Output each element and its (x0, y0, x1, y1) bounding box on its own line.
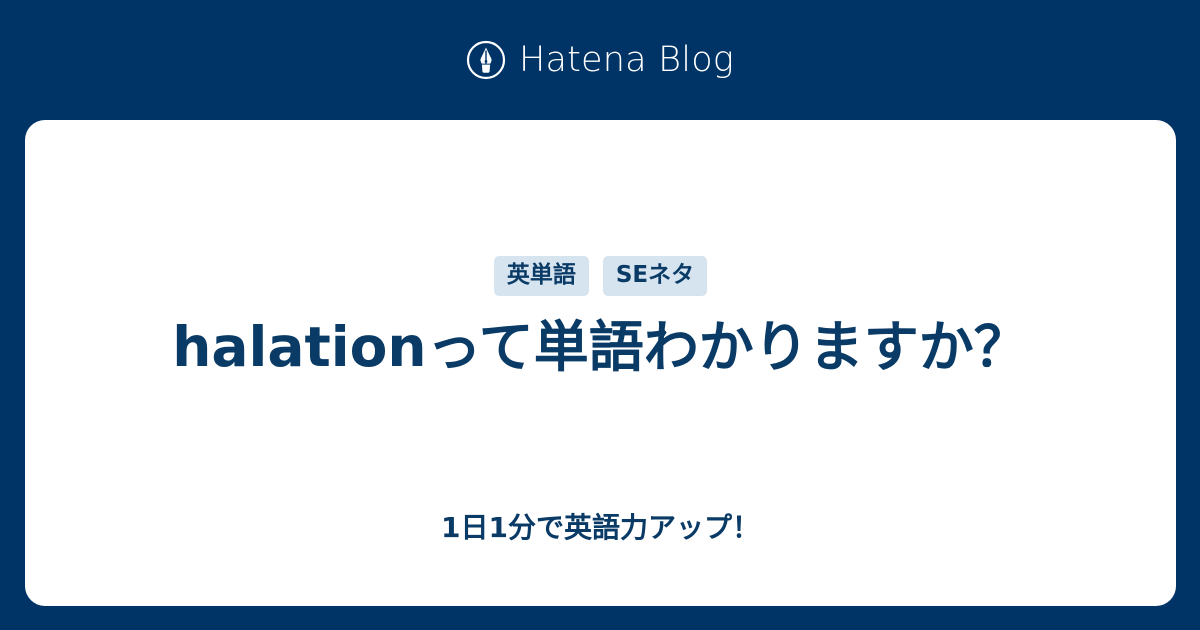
fountain-pen-nib-in-circle-icon (466, 40, 506, 80)
hatena-blog-og-card: Hatena Blog 英単語 SEネタ halationって単語わかりますか？… (0, 0, 1200, 630)
entry-title: halationって単語わかりますか？ (65, 312, 1136, 382)
category-tag[interactable]: SEネタ (603, 256, 707, 296)
category-tag[interactable]: 英単語 (494, 256, 589, 296)
hatena-blog-logo (466, 40, 506, 80)
category-tag-list: 英単語 SEネタ (25, 256, 1176, 296)
blog-subtitle: 1日1分で英語力アップ！ (65, 510, 1136, 546)
brand-header: Hatena Blog (0, 0, 1200, 120)
brand-name-label: Hatena Blog (519, 43, 734, 78)
entry-card: 英単語 SEネタ halationって単語わかりますか？ 1日1分で英語力アップ… (25, 120, 1176, 606)
